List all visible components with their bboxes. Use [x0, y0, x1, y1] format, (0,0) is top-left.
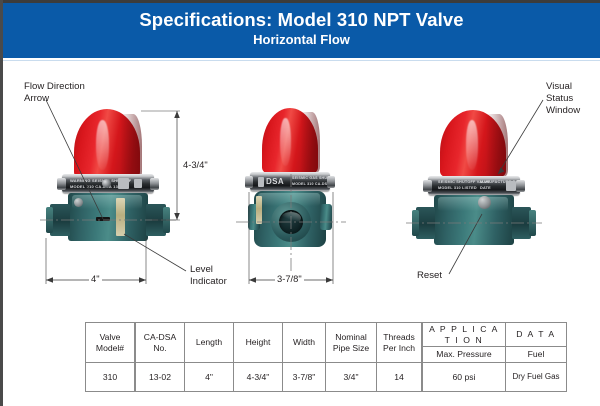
- header-valve-model: Valve Model#: [86, 323, 136, 363]
- dimension-label-height: 4-3/4": [181, 159, 210, 170]
- header-threads-per-inch: Threads Per Inch: [377, 323, 423, 363]
- cell-width: 3-7/8": [283, 363, 326, 392]
- page-title: Specifications: Model 310 NPT Valve: [3, 9, 600, 31]
- table-header-row: Valve Model# CA-DSA No. Length Height Wi…: [86, 323, 567, 347]
- valve-illustrations: WARNING SEISMIC SHUTOFF MODEL 310 CA-DSA…: [0, 62, 600, 310]
- dimension-label-length: 4": [89, 273, 102, 284]
- header-height: Height: [234, 323, 283, 363]
- cell-ca-dsa-no: 13-02: [135, 363, 185, 392]
- table-row: 310 13-02 4" 4-3/4" 3-7/8" 3/4" 14 60 ps…: [86, 363, 567, 392]
- cell-length: 4": [185, 363, 234, 392]
- banner-underline: [3, 60, 600, 61]
- subheader-max-pressure: Max. Pressure: [422, 347, 506, 363]
- dimension-height-arrow-bottom: [174, 213, 180, 220]
- callout-flow-direction-arrow: Flow Direction Arrow: [24, 81, 85, 105]
- page-subtitle: Horizontal Flow: [3, 32, 600, 48]
- callout-level-indicator: Level Indicator: [190, 264, 227, 288]
- subheader-fuel: Fuel: [506, 347, 567, 363]
- cell-nominal-pipe-size: 3/4": [326, 363, 377, 392]
- dimension-height-arrow-top: [174, 111, 180, 118]
- group-header-data: D A T A: [506, 323, 567, 347]
- leader-arrow-visual-status: [498, 167, 505, 174]
- dimension-width-arrow-right: [326, 277, 333, 283]
- cell-height: 4-3/4": [234, 363, 283, 392]
- header-ca-dsa-no: CA-DSA No.: [135, 323, 185, 363]
- cell-threads-per-inch: 14: [377, 363, 423, 392]
- cell-valve-model: 310: [86, 363, 136, 392]
- leader-flow-direction: [46, 100, 103, 219]
- specifications-table: Valve Model# CA-DSA No. Length Height Wi…: [85, 322, 567, 392]
- dimension-label-width: 3-7/8": [275, 273, 304, 284]
- cell-max-pressure: 60 psi: [422, 363, 506, 392]
- header-width: Width: [283, 323, 326, 363]
- callout-reset: Reset: [417, 270, 442, 282]
- dimension-length-arrow-right: [139, 277, 146, 283]
- cell-fuel: Dry Fuel Gas: [506, 363, 567, 392]
- dimension-length-arrow-left: [46, 277, 53, 283]
- leader-level-indicator: [124, 234, 186, 271]
- header-length: Length: [185, 323, 234, 363]
- callout-visual-status-window: Visual Status Window: [546, 81, 580, 118]
- page-frame: Specifications: Model 310 NPT Valve Hori…: [0, 0, 600, 406]
- header-nominal-pipe-size: Nominal Pipe Size: [326, 323, 377, 363]
- dimension-width-arrow-left: [249, 277, 256, 283]
- leader-visual-status-window: [498, 100, 543, 174]
- header-banner: Specifications: Model 310 NPT Valve Hori…: [3, 3, 600, 58]
- group-header-application: A P P L I C A T I O N: [422, 323, 506, 347]
